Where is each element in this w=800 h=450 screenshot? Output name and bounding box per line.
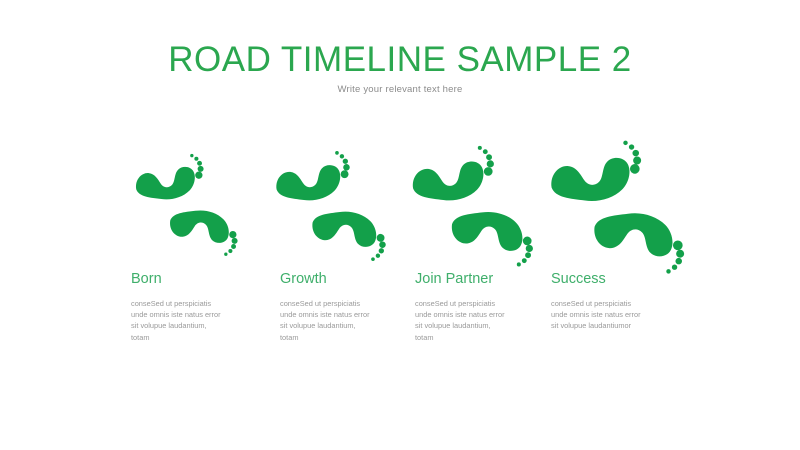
footprint-toe-4 [629,144,634,149]
footprint-toe-4 [376,254,380,258]
footprint-pair-1-right-foot [166,208,236,246]
timeline-column-2: Growth conseSed ut perspiciatisunde omni… [280,270,410,343]
column-body-line: sit volupue laudantium, [280,320,410,331]
timeline-column-1: Born conseSed ut perspiciatisunde omnis … [131,270,261,343]
column-body-line: conseSed ut perspiciatis [551,298,681,309]
footprint-sole [551,158,629,201]
footprints-trail-graphic [0,150,800,270]
footprint-pair-3-right-foot [447,209,531,254]
page-title: ROAD TIMELINE SAMPLE 2 [0,40,800,80]
footprint-toe-5 [335,151,339,155]
footprint-icon [589,210,682,260]
footprint-toe-1 [673,241,683,251]
footprint-toe-1 [523,237,532,246]
column-body-line: conseSed ut perspiciatis [280,298,410,309]
footprint-toe-1 [229,231,236,238]
footprint-sole [312,212,376,247]
footprint-toe-4 [340,154,344,158]
footprint-pair-3-left-foot [408,158,492,203]
timeline-column-4: Success conseSed ut perspiciatisunde omn… [551,270,681,332]
footprint-icon [408,158,492,203]
footprint-toe-3 [379,248,384,253]
column-body: conseSed ut perspiciatisunde omnis iste … [280,298,410,343]
column-heading: Success [551,270,681,288]
footprint-toe-3 [231,244,236,249]
footprint-toe-1 [341,170,349,178]
footprint-pair-2-right-foot [308,209,384,250]
footprint-toe-5 [623,141,627,145]
column-body-line: unde omnis iste natus error [131,309,261,320]
footprint-sole [413,161,484,200]
column-body-line: totam [280,332,410,343]
footprint-toe-4 [522,258,527,263]
footprint-toe-3 [486,154,492,160]
footprint-toe-2 [379,241,386,248]
footprint-icon [166,208,236,246]
column-body-line: conseSed ut perspiciatis [415,298,545,309]
footprint-toe-2 [198,166,204,172]
slide-canvas: ROAD TIMELINE SAMPLE 2 Write your releva… [0,0,800,450]
footprint-icon [546,154,639,204]
footprint-toe-3 [632,150,639,157]
footprint-pair-4-left-foot [546,154,639,204]
timeline-column-3: Join Partner conseSed ut perspiciatisund… [415,270,545,343]
column-body: conseSed ut perspiciatisunde omnis iste … [415,298,545,343]
footprint-toe-3 [525,252,531,258]
footprint-icon [308,209,384,250]
footprint-sole [170,210,229,242]
column-body-line: totam [415,332,545,343]
footprint-toe-5 [190,154,193,157]
footprint-toe-3 [675,258,682,265]
footprint-toe-2 [676,250,684,258]
column-body-line: conseSed ut perspiciatis [131,298,261,309]
footprint-toe-1 [484,167,493,176]
footprint-toe-5 [224,253,227,256]
footprint-pair-4-right-foot [589,210,682,260]
footprint-toe-5 [478,146,482,150]
footprint-toe-3 [197,161,202,166]
column-body-line: totam [131,332,261,343]
page-subtitle: Write your relevant text here [0,84,800,95]
footprint-toe-2 [526,245,533,252]
footprint-pair-1-left-foot [132,164,202,202]
footprint-toe-4 [228,249,232,253]
footprint-toe-3 [343,159,348,164]
footprint-toe-4 [483,149,488,154]
footprint-sole [452,212,523,251]
footprint-icon [132,164,202,202]
footprint-toe-5 [371,257,375,261]
footprint-pair-2-left-foot [272,162,348,203]
column-heading: Join Partner [415,270,545,288]
column-body-line: unde omnis iste natus error [415,309,545,320]
footprint-icon [447,209,531,254]
footprint-toe-2 [487,160,494,167]
column-body-line: sit volupue laudantium, [131,320,261,331]
footprint-icon [272,162,348,203]
column-heading: Born [131,270,261,288]
column-body-line: unde omnis iste natus error [551,309,681,320]
column-heading: Growth [280,270,410,288]
column-body: conseSed ut perspiciatisunde omnis iste … [551,298,681,332]
column-body-line: unde omnis iste natus error [280,309,410,320]
footprint-sole [276,165,340,200]
footprint-toe-1 [630,164,640,174]
footprint-toe-2 [343,164,350,171]
footprint-toe-2 [633,157,641,165]
footprint-toe-2 [232,238,238,244]
column-body: conseSed ut perspiciatisunde omnis iste … [131,298,261,343]
footprint-toe-4 [194,157,198,161]
footprint-sole [594,213,672,256]
footprint-sole [136,167,195,199]
column-body-line: sit volupue laudantium, [415,320,545,331]
column-body-line: sit volupue laudantiumor [551,320,681,331]
footprint-toe-1 [377,234,385,242]
footprint-toe-5 [517,262,521,266]
footprint-toe-1 [195,172,202,179]
